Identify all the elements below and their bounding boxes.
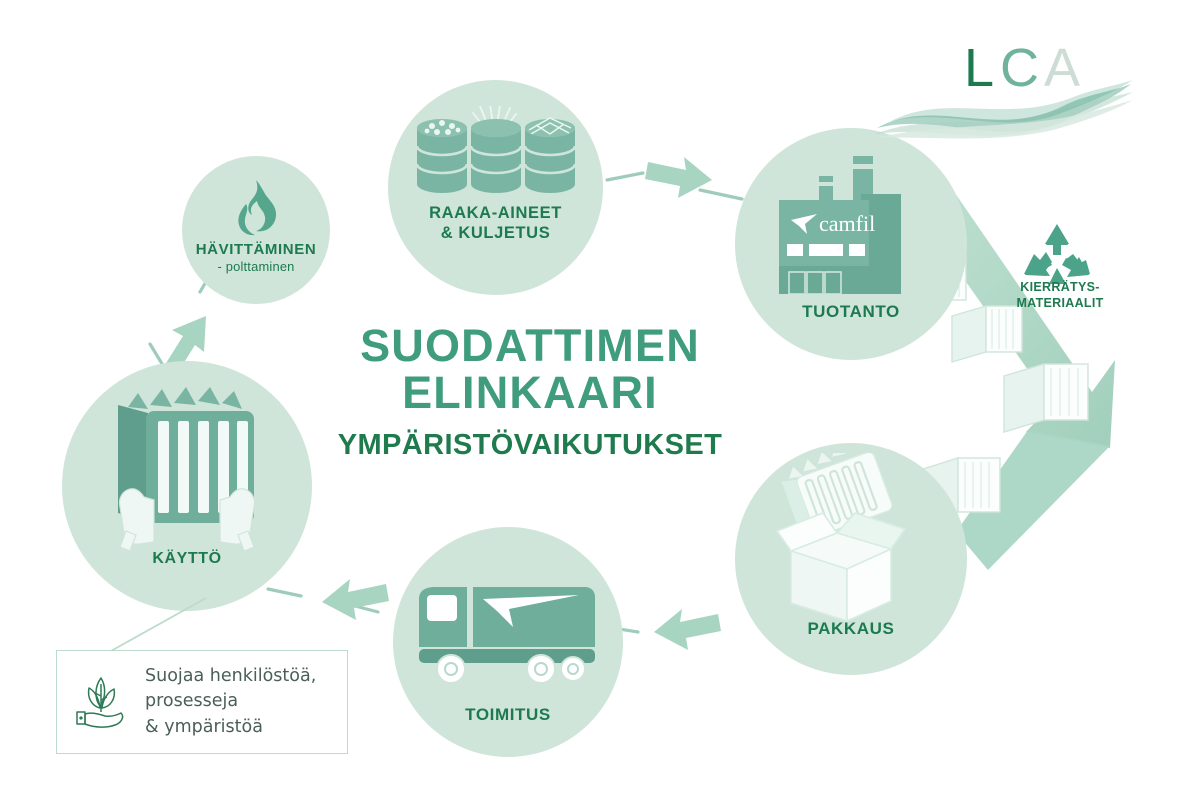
infobox-text: Suojaa henkilöstöä, prosesseja & ympäris… [145, 664, 316, 740]
lca-wave-decoration [875, 78, 1135, 140]
node-pakkaus-label: PAKKAUS [735, 619, 967, 639]
hand-with-leaves-icon [73, 672, 131, 732]
title-line2: ELINKAARI [402, 367, 658, 418]
delivery-truck-icon [413, 569, 603, 689]
node-kaytto[interactable]: KÄYTTÖ [62, 361, 312, 611]
infobox-line1: Suojaa henkilöstöä, [145, 666, 316, 686]
recycling-label: KIERRÄTYS- MATERIAALIT [990, 280, 1130, 311]
node-kaytto-label: KÄYTTÖ [62, 550, 312, 569]
node-toimitus[interactable]: TOIMITUS [393, 527, 623, 757]
page-title: SUODATTIMEN ELINKAARI [330, 322, 730, 417]
node-havittaminen[interactable]: HÄVITTÄMINEN - polttaminen [182, 156, 330, 304]
infobox[interactable]: Suojaa henkilöstöä, prosesseja & ympäris… [56, 650, 348, 754]
infobox-line3: & ympäristöä [145, 717, 263, 737]
node-pakkaus[interactable]: PAKKAUS [735, 443, 967, 675]
recycling-label-line1: KIERRÄTYS- [1020, 280, 1099, 294]
infographic-canvas: KÄYTTÖ HÄVITTÄMINEN - polttaminen [0, 0, 1200, 800]
recycling-label-line2: MATERIAALIT [1016, 296, 1103, 310]
node-raaka-aineet-line1: RAAKA-AINEET [429, 204, 562, 222]
node-havittaminen-sublabel: - polttaminen [182, 259, 330, 274]
raw-material-drums-icon [416, 106, 576, 201]
infobox-connector-line [100, 596, 230, 658]
node-havittaminen-title: HÄVITTÄMINEN [196, 241, 317, 258]
node-toimitus-label: TOIMITUS [393, 705, 623, 725]
page-subtitle: YMPÄRISTÖVAIKUTUKSET [330, 429, 730, 462]
hands-holding-filter-icon [82, 379, 292, 564]
title-line1: SUODATTIMEN [360, 320, 700, 371]
node-raaka-aineet-line2: & KULJETUS [441, 224, 551, 242]
node-raaka-aineet[interactable]: RAAKA-AINEET & KULJETUS [388, 80, 603, 295]
open-box-icon [751, 453, 951, 623]
infobox-line2: prosesseja [145, 691, 238, 711]
flame-icon [229, 178, 283, 236]
node-raaka-aineet-label: RAAKA-AINEET & KULJETUS [388, 204, 603, 243]
title-block: SUODATTIMEN ELINKAARI YMPÄRISTÖVAIKUTUKS… [330, 322, 730, 462]
node-tuotanto-label: TUOTANTO [735, 302, 967, 322]
node-havittaminen-label: HÄVITTÄMINEN - polttaminen [182, 241, 330, 274]
node-tuotanto[interactable]: camfil TUOTANTO [735, 128, 967, 360]
factory-icon: camfil [761, 154, 941, 304]
factory-logo-text: camfil [819, 211, 875, 236]
